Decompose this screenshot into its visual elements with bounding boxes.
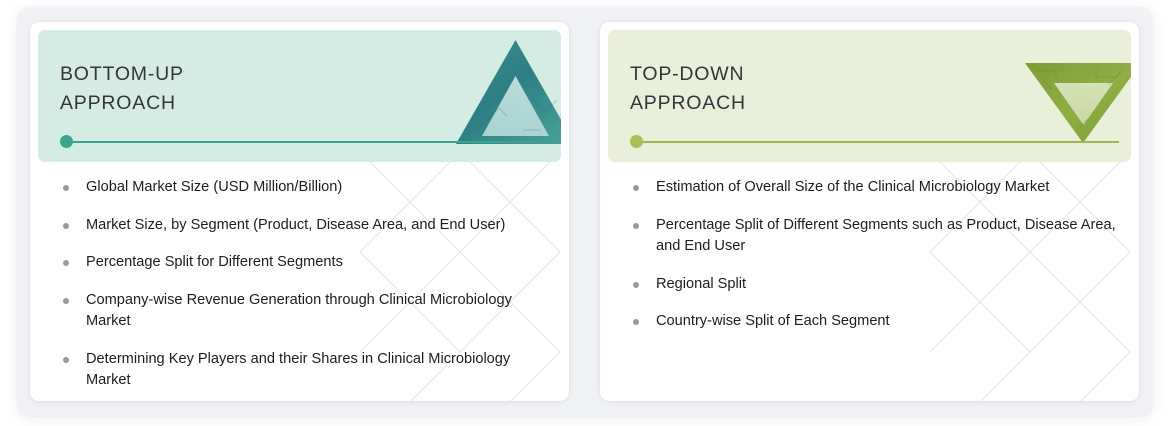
- list-item-label: Percentage Split of Different Segments s…: [656, 217, 1116, 255]
- list-item-label: Determining Key Players and their Shares…: [86, 351, 510, 389]
- accent-dot: [630, 135, 643, 148]
- list-item-label: Global Market Size (USD Million/Billion): [86, 179, 342, 195]
- list-item-label: Country-wise Split of Each Segment: [656, 313, 890, 329]
- bullet-list-bottom-up: Global Market Size (USD Million/Billion)…: [52, 177, 552, 392]
- accent-rule: [637, 141, 1119, 143]
- list-item: Regional Split: [622, 274, 1122, 296]
- bullet-dot-icon: [633, 282, 639, 288]
- approach-card-bottom-up: BOTTOM-UP APPROACH: [30, 22, 569, 401]
- list-item-label: Estimation of Overall Size of the Clinic…: [656, 179, 1049, 195]
- list-item-label: Company-wise Revenue Generation through …: [86, 292, 512, 330]
- bullet-list-top-down: Estimation of Overall Size of the Clinic…: [622, 177, 1122, 333]
- list-item: Percentage Split for Different Segments: [52, 252, 552, 274]
- approach-card-top-down: TOP-DOWN APPROACH: [600, 22, 1139, 401]
- list-item: Market Size, by Segment (Product, Diseas…: [52, 215, 552, 237]
- page-root: BOTTOM-UP APPROACH: [0, 0, 1170, 426]
- triangle-up-icon: [453, 34, 561, 146]
- bullet-dot-icon: [63, 260, 69, 266]
- bullet-dot-icon: [63, 185, 69, 191]
- list-item-label: Regional Split: [656, 276, 746, 292]
- list-item-label: Percentage Split for Different Segments: [86, 254, 343, 270]
- bullet-dot-icon: [63, 357, 69, 363]
- bullet-dot-icon: [63, 298, 69, 304]
- bullet-dot-icon: [633, 185, 639, 191]
- list-item: Estimation of Overall Size of the Clinic…: [622, 177, 1122, 199]
- bullet-dot-icon: [633, 319, 639, 325]
- card-header-bottom-up: BOTTOM-UP APPROACH: [38, 30, 561, 162]
- list-item: Percentage Split of Different Segments s…: [622, 215, 1122, 258]
- list-item: Company-wise Revenue Generation through …: [52, 290, 552, 333]
- triangle-down-icon: [1022, 33, 1131, 145]
- card-title: BOTTOM-UP APPROACH: [60, 60, 184, 118]
- list-item: Determining Key Players and their Shares…: [52, 349, 552, 392]
- list-item: Country-wise Split of Each Segment: [622, 311, 1122, 333]
- card-title: TOP-DOWN APPROACH: [630, 60, 746, 118]
- bullet-dot-icon: [633, 223, 639, 229]
- bullet-dot-icon: [63, 223, 69, 229]
- list-item-label: Market Size, by Segment (Product, Diseas…: [86, 217, 505, 233]
- list-item: Global Market Size (USD Million/Billion): [52, 177, 552, 199]
- accent-rule: [67, 141, 539, 143]
- card-header-top-down: TOP-DOWN APPROACH: [608, 30, 1131, 162]
- accent-dot: [60, 135, 73, 148]
